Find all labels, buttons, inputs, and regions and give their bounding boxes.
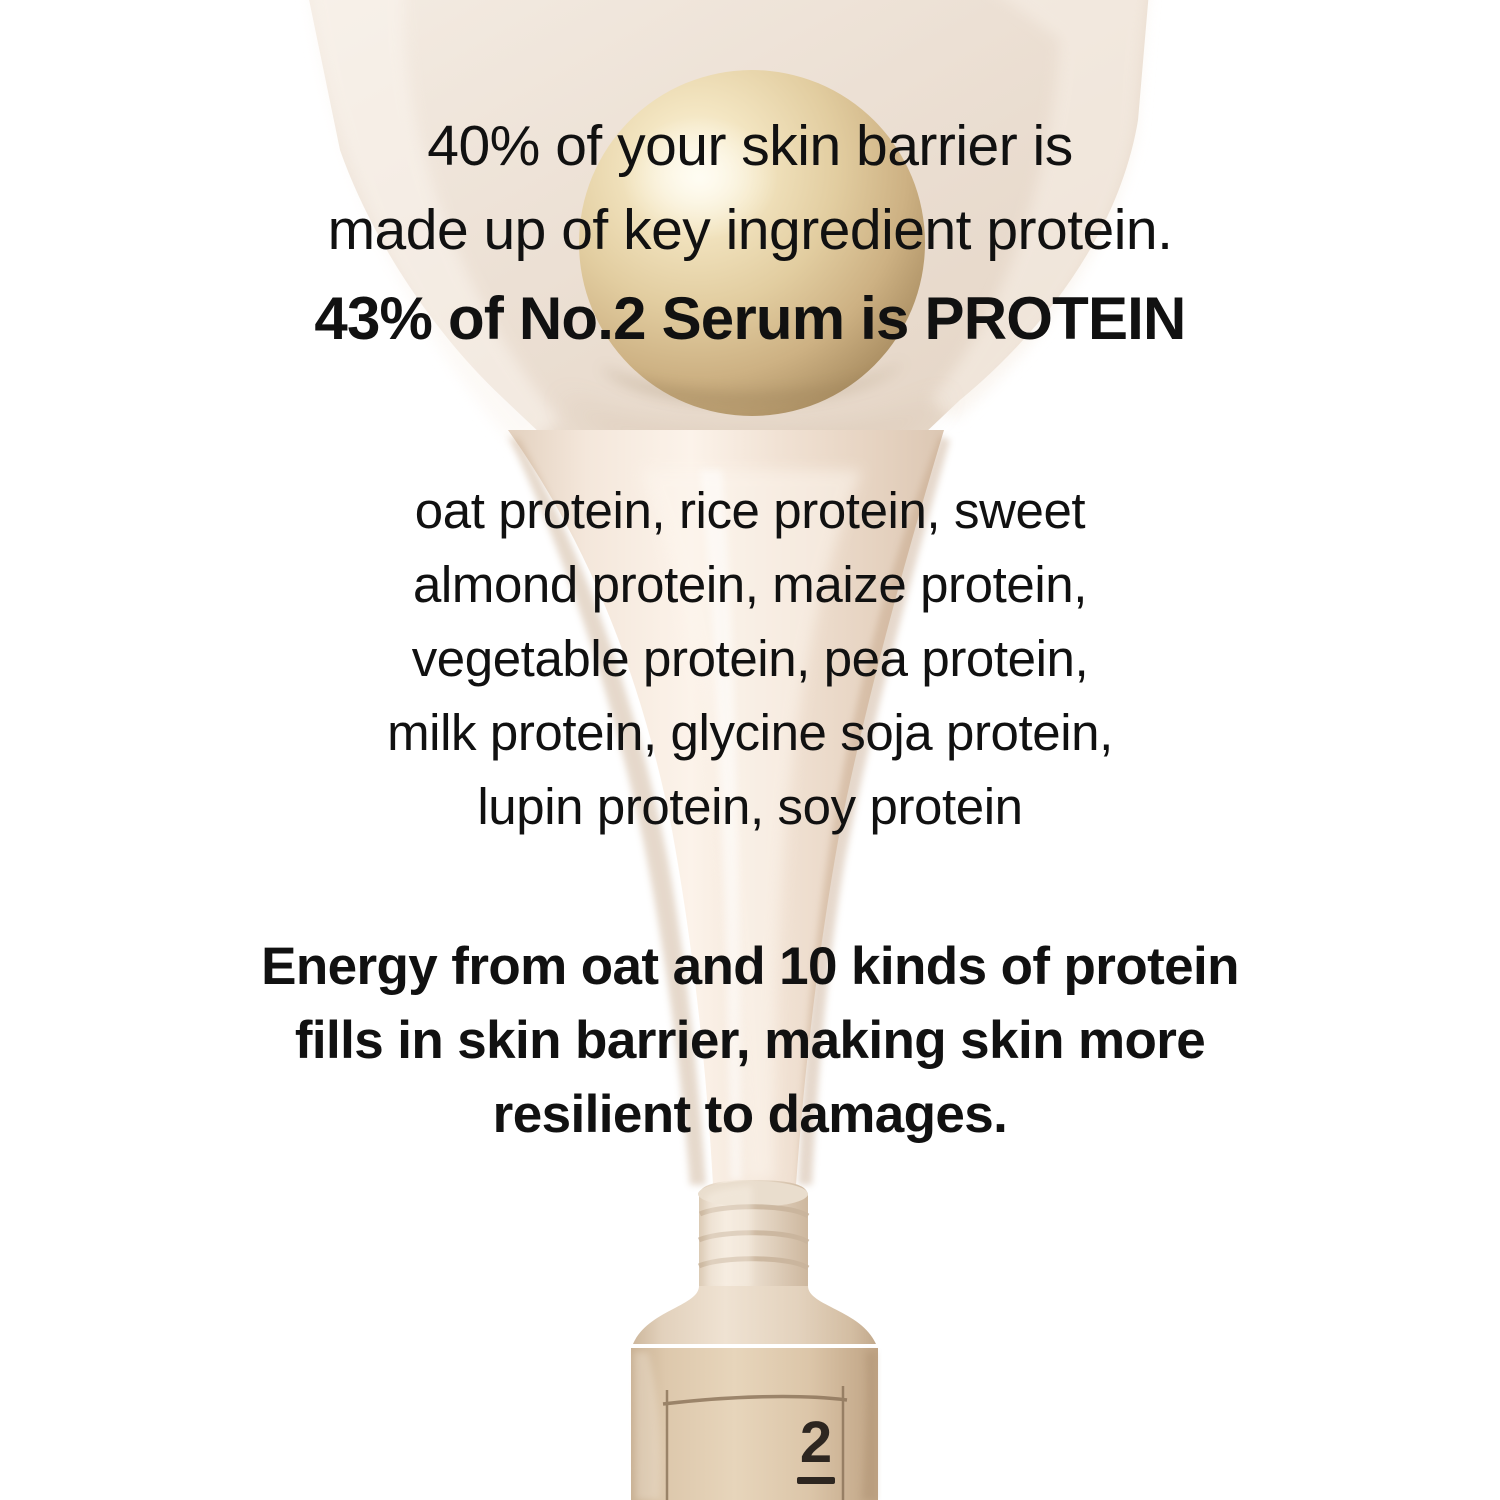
headline-line-3-emphasis: 43% of No.2 Serum is PROTEIN (0, 276, 1500, 362)
headline-line-2: made up of key ingredient protein. (328, 198, 1173, 262)
ingredient-line: almond protein, maize protein, (0, 548, 1500, 622)
headline-block: 40% of your skin barrier is made up of k… (0, 104, 1500, 362)
ingredient-line: vegetable protein, pea protein, (0, 622, 1500, 696)
ingredient-line: milk protein, glycine soja protein, (0, 696, 1500, 770)
headline-line-1: 40% of your skin barrier is (427, 114, 1072, 178)
benefit-line-1: Energy from oat and 10 kinds of protein (0, 930, 1500, 1004)
marketing-copy: 40% of your skin barrier is made up of k… (0, 0, 1500, 1500)
product-infographic: 2 40% of your skin barrier is made up of… (0, 0, 1500, 1500)
benefit-line-2: fills in skin barrier, making skin more (0, 1004, 1500, 1078)
benefit-statement-block: Energy from oat and 10 kinds of protein … (0, 930, 1500, 1152)
ingredient-list-block: oat protein, rice protein, sweet almond … (0, 474, 1500, 844)
benefit-line-3: resilient to damages. (0, 1078, 1500, 1152)
ingredient-line: oat protein, rice protein, sweet (0, 474, 1500, 548)
ingredient-line: lupin protein, soy protein (0, 770, 1500, 844)
